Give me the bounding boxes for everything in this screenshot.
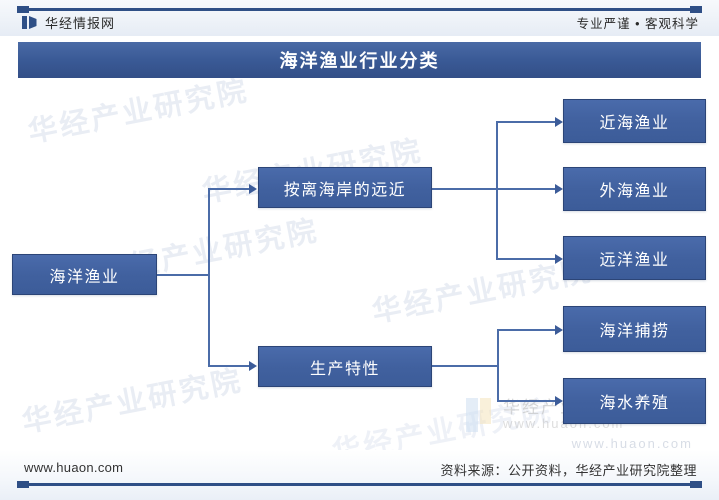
arrow-to-leaf-4 bbox=[555, 325, 563, 335]
connector-to-leaf-3 bbox=[496, 258, 556, 260]
brand: 华经情报网 bbox=[22, 13, 115, 32]
connector-to-leaf-1 bbox=[496, 121, 556, 123]
arrow-to-leaf-2 bbox=[555, 184, 563, 194]
watermark-text: 华经产业研究院 bbox=[24, 78, 252, 151]
chart-title-band: 海洋渔业行业分类 bbox=[18, 42, 701, 78]
header-divider-rule bbox=[18, 8, 701, 11]
node-branch-2[interactable]: 生产特性 bbox=[258, 346, 432, 387]
arrow-to-branch-1 bbox=[249, 184, 257, 194]
connector-root-stem bbox=[157, 274, 210, 276]
huaon-flag-icon bbox=[22, 15, 37, 30]
footer-website-url[interactable]: www.huaon.com bbox=[24, 460, 123, 475]
node-branch-2-label: 生产特性 bbox=[310, 355, 380, 379]
connector-branch-1-stem bbox=[432, 188, 497, 190]
node-branch-1[interactable]: 按离海岸的远近 bbox=[258, 167, 432, 208]
node-leaf-bulao[interactable]: 海洋捕捞 bbox=[563, 306, 706, 352]
node-leaf-yuanyang-label: 远洋渔业 bbox=[599, 246, 669, 270]
connector-to-branch-1 bbox=[208, 188, 250, 190]
arrow-to-leaf-3 bbox=[555, 254, 563, 264]
arrow-to-leaf-1 bbox=[555, 117, 563, 127]
page-title: 海洋渔业行业分类 bbox=[280, 47, 440, 73]
diagram-canvas: 华经产业研究院 华经产业研究院 华经产业研究院 华经产业研究院 华经产业研究院 … bbox=[0, 78, 719, 450]
footer-divider-rule bbox=[18, 483, 701, 486]
connector-to-branch-2 bbox=[208, 365, 250, 367]
node-root-label: 海洋渔业 bbox=[49, 263, 119, 287]
footer-bar: www.huaon.com www.huaon.com 资料来源：公开资料，华经… bbox=[0, 450, 719, 500]
arrow-to-leaf-5 bbox=[555, 396, 563, 406]
connector-root-trunk bbox=[208, 189, 210, 366]
huaon-logo-icon bbox=[466, 398, 496, 432]
chart-image: 华经情报网 专业严谨 • 客观科学 海洋渔业行业分类 华经产业研究院 华经产业研… bbox=[0, 0, 719, 500]
node-leaf-yangzhi-label: 海水养殖 bbox=[599, 389, 669, 413]
node-leaf-yuanyang[interactable]: 远洋渔业 bbox=[563, 236, 706, 280]
node-leaf-jinhai[interactable]: 近海渔业 bbox=[563, 99, 706, 143]
connector-to-leaf-5 bbox=[497, 400, 556, 402]
node-root[interactable]: 海洋渔业 bbox=[12, 254, 157, 295]
watermark-text: 华经产业研究院 bbox=[18, 357, 246, 441]
brand-name: 华经情报网 bbox=[45, 13, 115, 32]
connector-branch-2-stem bbox=[432, 365, 498, 367]
header-slogan: 专业严谨 • 客观科学 bbox=[577, 13, 699, 32]
node-leaf-jinhai-label: 近海渔业 bbox=[599, 109, 669, 133]
node-branch-1-label: 按离海岸的远近 bbox=[284, 176, 407, 200]
arrow-to-branch-2 bbox=[249, 361, 257, 371]
watermark-text: 华经产业研究院 bbox=[328, 387, 556, 450]
node-leaf-yangzhi[interactable]: 海水养殖 bbox=[563, 378, 706, 424]
connector-branch-2-trunk bbox=[497, 329, 499, 401]
header-bar: 华经情报网 专业严谨 • 客观科学 bbox=[0, 0, 719, 36]
footer-source-note: 资料来源：公开资料，华经产业研究院整理 bbox=[440, 460, 697, 479]
connector-to-leaf-2 bbox=[496, 188, 556, 190]
node-leaf-bulao-label: 海洋捕捞 bbox=[599, 317, 669, 341]
node-leaf-waihai[interactable]: 外海渔业 bbox=[563, 167, 706, 211]
connector-to-leaf-4 bbox=[497, 329, 556, 331]
node-leaf-waihai-label: 外海渔业 bbox=[599, 177, 669, 201]
connector-branch-1-trunk bbox=[496, 121, 498, 259]
